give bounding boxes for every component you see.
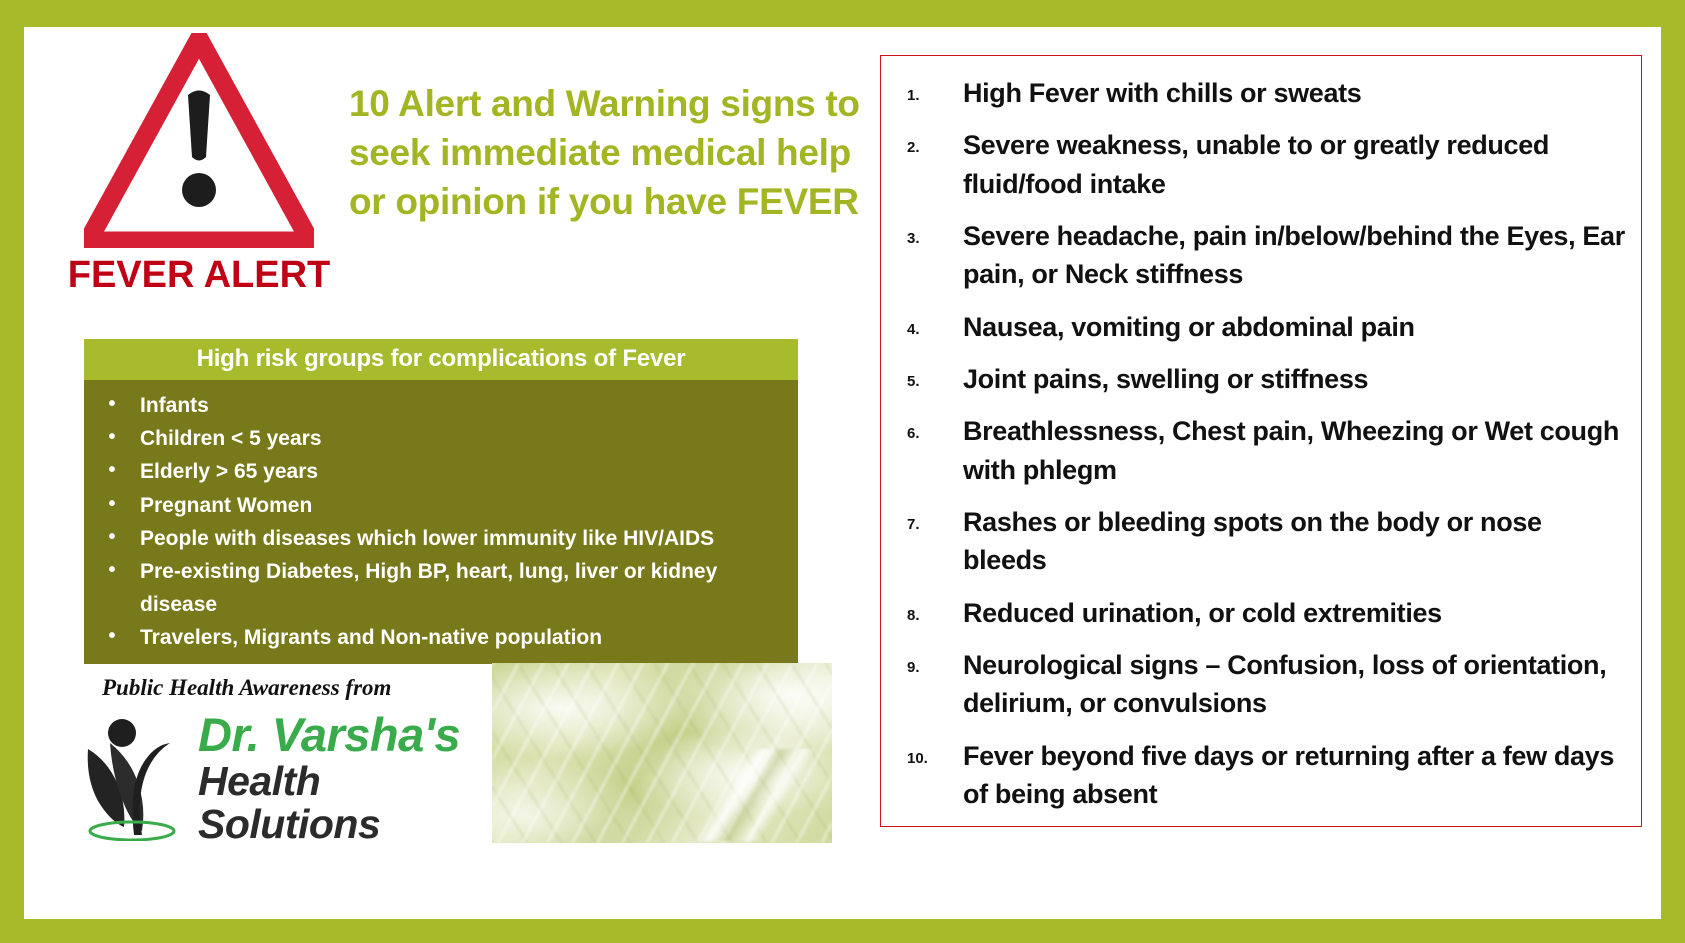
list-item-number: 8.: [891, 594, 963, 623]
brand-name: Dr. Varsha's: [198, 711, 496, 760]
list-item: 8. Reduced urination, or cold extremitie…: [891, 594, 1625, 632]
bullet-icon: •: [84, 389, 140, 421]
list-item-label: Nausea, vomiting or abdominal pain: [963, 308, 1625, 346]
poster-frame: FEVER ALERT 10 Alert and Warning signs t…: [0, 0, 1685, 943]
list-item-label: Joint pains, swelling or stiffness: [963, 360, 1625, 398]
bullet-icon: •: [84, 489, 140, 521]
bullet-icon: •: [84, 555, 140, 587]
person-checkmark-logo-icon: [76, 713, 194, 841]
list-item-label: Travelers, Migrants and Non-native popul…: [140, 621, 788, 654]
list-item-number: 3.: [891, 217, 963, 246]
list-item-label: Severe headache, pain in/below/behind th…: [963, 217, 1625, 294]
list-item-number: 10.: [891, 737, 963, 766]
bullet-icon: •: [84, 455, 140, 487]
list-item-label: Infants: [140, 389, 788, 422]
list-item-number: 7.: [891, 503, 963, 532]
list-item-label: Children < 5 years: [140, 422, 788, 455]
list-item: 5. Joint pains, swelling or stiffness: [891, 360, 1625, 398]
list-item: 3. Severe headache, pain in/below/behind…: [891, 217, 1625, 294]
list-item: • Pre-existing Diabetes, High BP, heart,…: [84, 555, 798, 621]
list-item-label: High Fever with chills or sweats: [963, 74, 1625, 112]
list-item-number: 9.: [891, 646, 963, 675]
list-item: • Pregnant Women: [84, 489, 798, 522]
list-item: • Infants: [84, 389, 798, 422]
thermometer-in-hands-photo: [492, 663, 832, 843]
branding-block: Public Health Awareness from Dr. Varsha'…: [76, 675, 496, 847]
list-item: 4. Nausea, vomiting or abdominal pain: [891, 308, 1625, 346]
high-risk-groups-list: • Infants • Children < 5 years • Elderly…: [84, 380, 798, 664]
warning-signs-panel: 1. High Fever with chills or sweats 2. S…: [880, 55, 1642, 827]
list-item-label: Pregnant Women: [140, 489, 788, 522]
list-item-label: Pre-existing Diabetes, High BP, heart, l…: [140, 555, 788, 621]
list-item: 9. Neurological signs – Confusion, loss …: [891, 646, 1625, 723]
list-item: 2. Severe weakness, unable to or greatly…: [891, 126, 1625, 203]
high-risk-groups-header: High risk groups for complications of Fe…: [84, 339, 798, 380]
list-item: 1. High Fever with chills or sweats: [891, 74, 1625, 112]
bullet-icon: •: [84, 422, 140, 454]
list-item-label: Breathlessness, Chest pain, Wheezing or …: [963, 412, 1625, 489]
list-item-label: Elderly > 65 years: [140, 455, 788, 488]
fever-alert-badge: FEVER ALERT: [64, 33, 334, 297]
poster-canvas: FEVER ALERT 10 Alert and Warning signs t…: [24, 27, 1661, 919]
list-item-label: Neurological signs – Confusion, loss of …: [963, 646, 1625, 723]
list-item-label: Rashes or bleeding spots on the body or …: [963, 503, 1625, 580]
fever-alert-label: FEVER ALERT: [64, 254, 334, 297]
list-item: 10. Fever beyond five days or returning …: [891, 737, 1625, 814]
page-title: 10 Alert and Warning signs to seek immed…: [349, 79, 869, 227]
list-item-label: Severe weakness, unable to or greatly re…: [963, 126, 1625, 203]
list-item-number: 5.: [891, 360, 963, 389]
list-item-label: People with diseases which lower immunit…: [140, 522, 788, 555]
warning-triangle-exclamation-icon: [84, 33, 314, 248]
list-item: • Children < 5 years: [84, 422, 798, 455]
list-item-number: 1.: [891, 74, 963, 103]
list-item-number: 6.: [891, 412, 963, 441]
list-item: • Elderly > 65 years: [84, 455, 798, 488]
bullet-icon: •: [84, 522, 140, 554]
list-item: • Travelers, Migrants and Non-native pop…: [84, 621, 798, 654]
left-column: FEVER ALERT 10 Alert and Warning signs t…: [24, 27, 869, 919]
list-item: 6. Breathlessness, Chest pain, Wheezing …: [891, 412, 1625, 489]
list-item: 7. Rashes or bleeding spots on the body …: [891, 503, 1625, 580]
brand-subtitle: Health Solutions: [198, 760, 496, 847]
list-item-number: 4.: [891, 308, 963, 337]
list-item-label: Fever beyond five days or returning afte…: [963, 737, 1625, 814]
list-item: • People with diseases which lower immun…: [84, 522, 798, 555]
high-risk-groups-box: High risk groups for complications of Fe…: [84, 339, 798, 664]
list-item-number: 2.: [891, 126, 963, 155]
branding-kicker: Public Health Awareness from: [102, 675, 496, 701]
bullet-icon: •: [84, 621, 140, 653]
list-item-label: Reduced urination, or cold extremities: [963, 594, 1625, 632]
